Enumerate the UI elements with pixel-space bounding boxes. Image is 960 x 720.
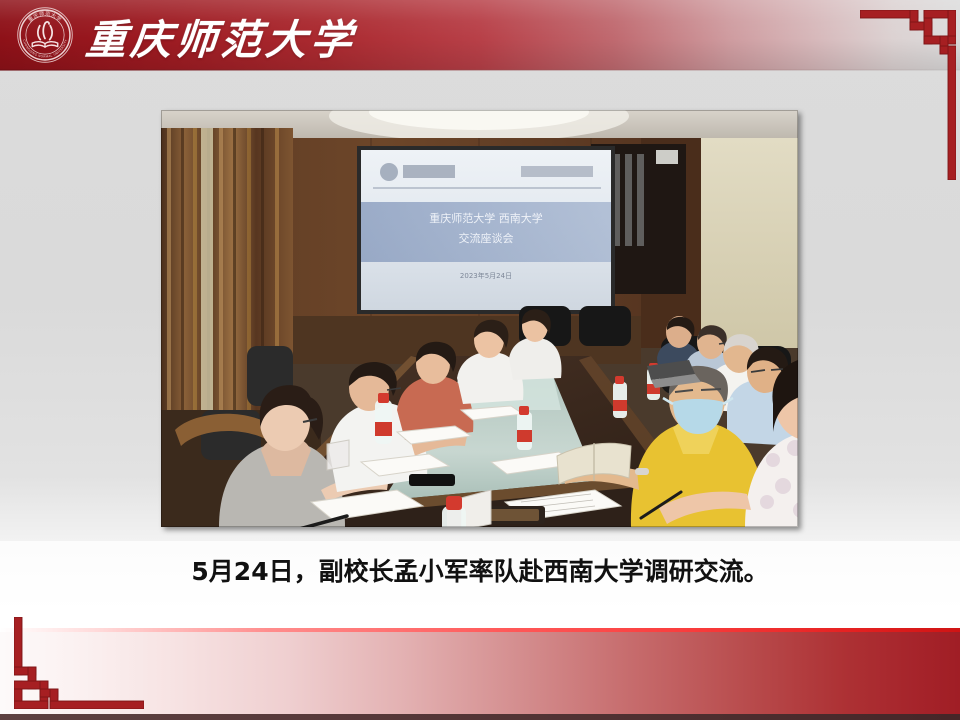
- meeting-photo: 重庆师范大学 西南大学 交流座谈会 2023年5月24日: [161, 110, 798, 527]
- screen-title-line2: 交流座谈会: [459, 231, 514, 245]
- svg-text:重庆师范大学: 重庆师范大学: [27, 10, 64, 23]
- presentation-slide: 重庆师范大学 CHONGQING NORMAL UNIVERSITY 重庆师范大…: [0, 0, 960, 720]
- meeting-photo-image: 重庆师范大学 西南大学 交流座谈会 2023年5月24日: [161, 110, 798, 527]
- photo-caption: 5月24日，副校长孟小军率队赴西南大学调研交流。: [0, 552, 960, 588]
- footer-baseline: [0, 714, 960, 720]
- footer-gradient-band: [0, 632, 960, 716]
- page-title: 重庆师范大学: [84, 8, 359, 64]
- university-seal-logo: 重庆师范大学 CHONGQING NORMAL UNIVERSITY: [16, 6, 74, 64]
- screen-title-line1: 重庆师范大学 西南大学: [429, 211, 543, 225]
- chinese-corner-ornament-top-right: [860, 10, 956, 185]
- footer-highlight-line: [0, 628, 960, 632]
- screen-date: 2023年5月24日: [460, 271, 512, 280]
- svg-text:CHONGQING NORMAL UNIVERSITY: CHONGQING NORMAL UNIVERSITY: [22, 39, 68, 59]
- chinese-corner-ornament-bottom-left: [14, 617, 144, 714]
- header-separator-line: [0, 69, 960, 71]
